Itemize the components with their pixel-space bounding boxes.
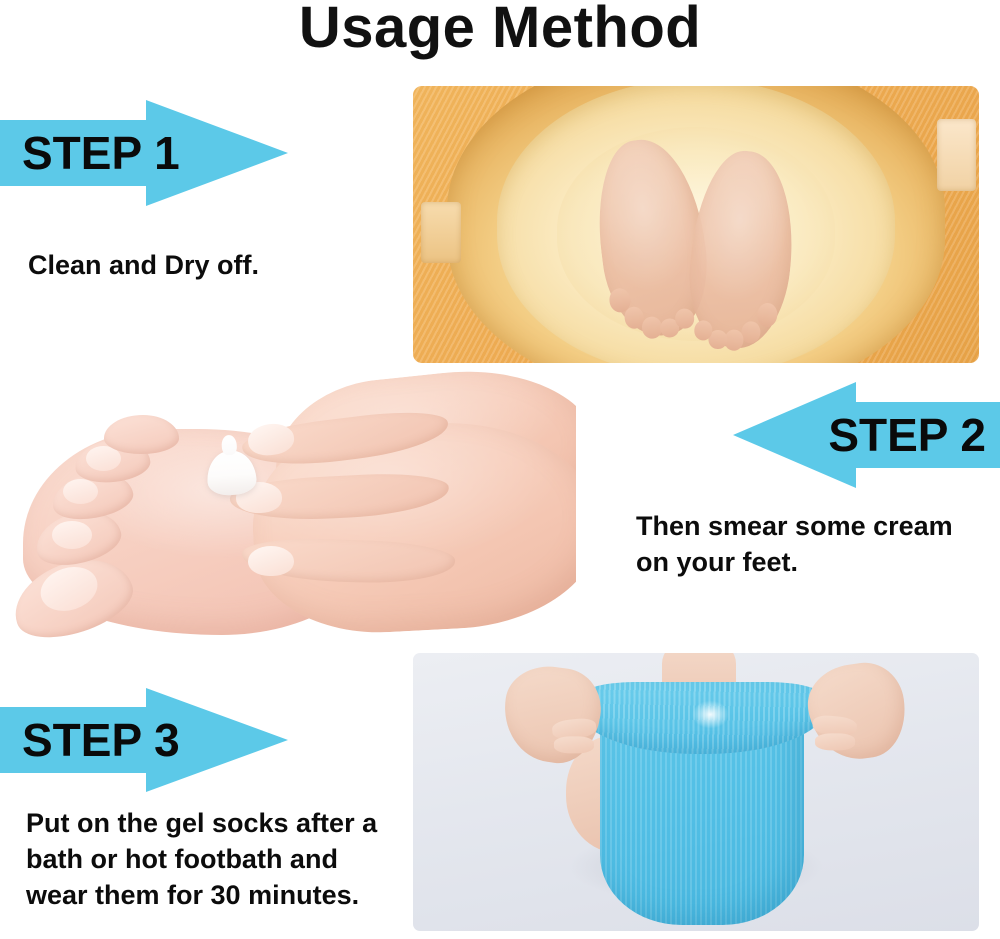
toe bbox=[756, 302, 778, 328]
feet-soaking-in-wooden-footbath-photo bbox=[413, 86, 979, 363]
step-1-label: STEP 1 bbox=[22, 130, 180, 176]
wooden-tub-inner bbox=[497, 86, 895, 363]
fingernail bbox=[248, 546, 294, 577]
page-title: Usage Method bbox=[0, 0, 1000, 60]
step-2-caption: Then smear some cream on your feet. bbox=[636, 508, 1000, 580]
toe bbox=[104, 415, 179, 454]
step-1-caption: Clean and Dry off. bbox=[28, 247, 388, 283]
usage-method-infographic: Usage Method STEP 1 Clean and Dry off. bbox=[0, 0, 1000, 939]
step-2-arrow: STEP 2 bbox=[733, 382, 1000, 488]
step-3-arrow: STEP 3 bbox=[0, 688, 288, 792]
sock-gloss-highlight bbox=[685, 695, 736, 734]
putting-on-blue-gel-sock-photo bbox=[413, 653, 979, 931]
toenail bbox=[52, 521, 92, 549]
finger bbox=[553, 736, 593, 753]
toenail bbox=[63, 479, 98, 504]
tub-handle-right bbox=[937, 119, 977, 191]
step-3-caption: Put on the gel socks after a bath or hot… bbox=[26, 805, 416, 913]
finger bbox=[815, 734, 855, 751]
step-3-label: STEP 3 bbox=[22, 717, 180, 763]
step-2-label: STEP 2 bbox=[828, 412, 986, 458]
step-1-arrow: STEP 1 bbox=[0, 100, 288, 206]
right-hand bbox=[803, 658, 911, 765]
wooden-tub-outer bbox=[447, 86, 945, 363]
tub-handle-left bbox=[421, 202, 461, 263]
applying-cream-to-foot-photo bbox=[0, 368, 576, 646]
